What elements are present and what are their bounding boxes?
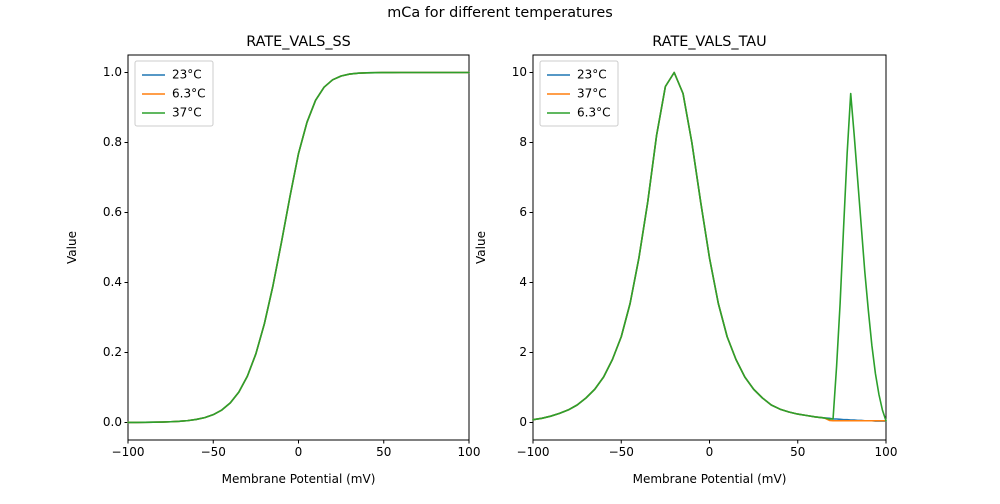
x-tick-label: 50 xyxy=(790,445,805,459)
x-tick-label: −100 xyxy=(112,445,145,459)
axes-title: RATE_VALS_SS xyxy=(246,34,351,50)
x-axis-label: Membrane Potential (mV) xyxy=(222,472,376,486)
axes-rate_vals_tau: −100−500501000246810RATE_VALS_TAUMembran… xyxy=(474,34,897,486)
x-tick-label: 50 xyxy=(376,445,391,459)
figure-suptitle: mCa for different temperatures xyxy=(0,5,1000,21)
x-tick-label: −50 xyxy=(201,445,226,459)
y-tick-label: 0.8 xyxy=(103,135,122,149)
x-tick-label: 0 xyxy=(295,445,303,459)
legend-label: 23°C xyxy=(577,68,607,82)
x-tick-label: 100 xyxy=(458,445,481,459)
legend-label: 23°C xyxy=(172,68,202,82)
legend-label: 6.3°C xyxy=(577,106,610,120)
y-tick-label: 0.4 xyxy=(103,275,122,289)
y-tick-label: 6 xyxy=(519,205,527,219)
y-axis-label: Value xyxy=(65,231,79,264)
legend-rate_vals_ss: 23°C6.3°C37°C xyxy=(135,61,213,126)
matplotlib-figure: mCa for different temperatures −100−5005… xyxy=(0,0,1000,500)
y-tick-label: 0.6 xyxy=(103,205,122,219)
legend-label: 6.3°C xyxy=(172,87,205,101)
y-tick-label: 0.0 xyxy=(103,415,122,429)
axes-title: RATE_VALS_TAU xyxy=(652,34,766,50)
y-tick-label: 4 xyxy=(519,275,527,289)
x-tick-label: 0 xyxy=(706,445,714,459)
figure-canvas: −100−500501000.00.20.40.60.81.0RATE_VALS… xyxy=(0,0,1000,500)
x-tick-label: −50 xyxy=(609,445,634,459)
x-tick-label: −100 xyxy=(517,445,550,459)
y-axis-label: Value xyxy=(474,231,488,264)
y-tick-label: 8 xyxy=(519,135,527,149)
axes-rate_vals_ss: −100−500501000.00.20.40.60.81.0RATE_VALS… xyxy=(65,34,480,486)
y-tick-label: 10 xyxy=(512,65,527,79)
legend-label: 37°C xyxy=(172,106,202,120)
y-tick-label: 1.0 xyxy=(103,65,122,79)
y-tick-label: 2 xyxy=(519,345,527,359)
y-tick-label: 0 xyxy=(519,415,527,429)
y-tick-label: 0.2 xyxy=(103,345,122,359)
legend-rate_vals_tau: 23°C37°C6.3°C xyxy=(540,61,618,126)
x-tick-label: 100 xyxy=(875,445,898,459)
x-axis-label: Membrane Potential (mV) xyxy=(633,472,787,486)
legend-label: 37°C xyxy=(577,87,607,101)
